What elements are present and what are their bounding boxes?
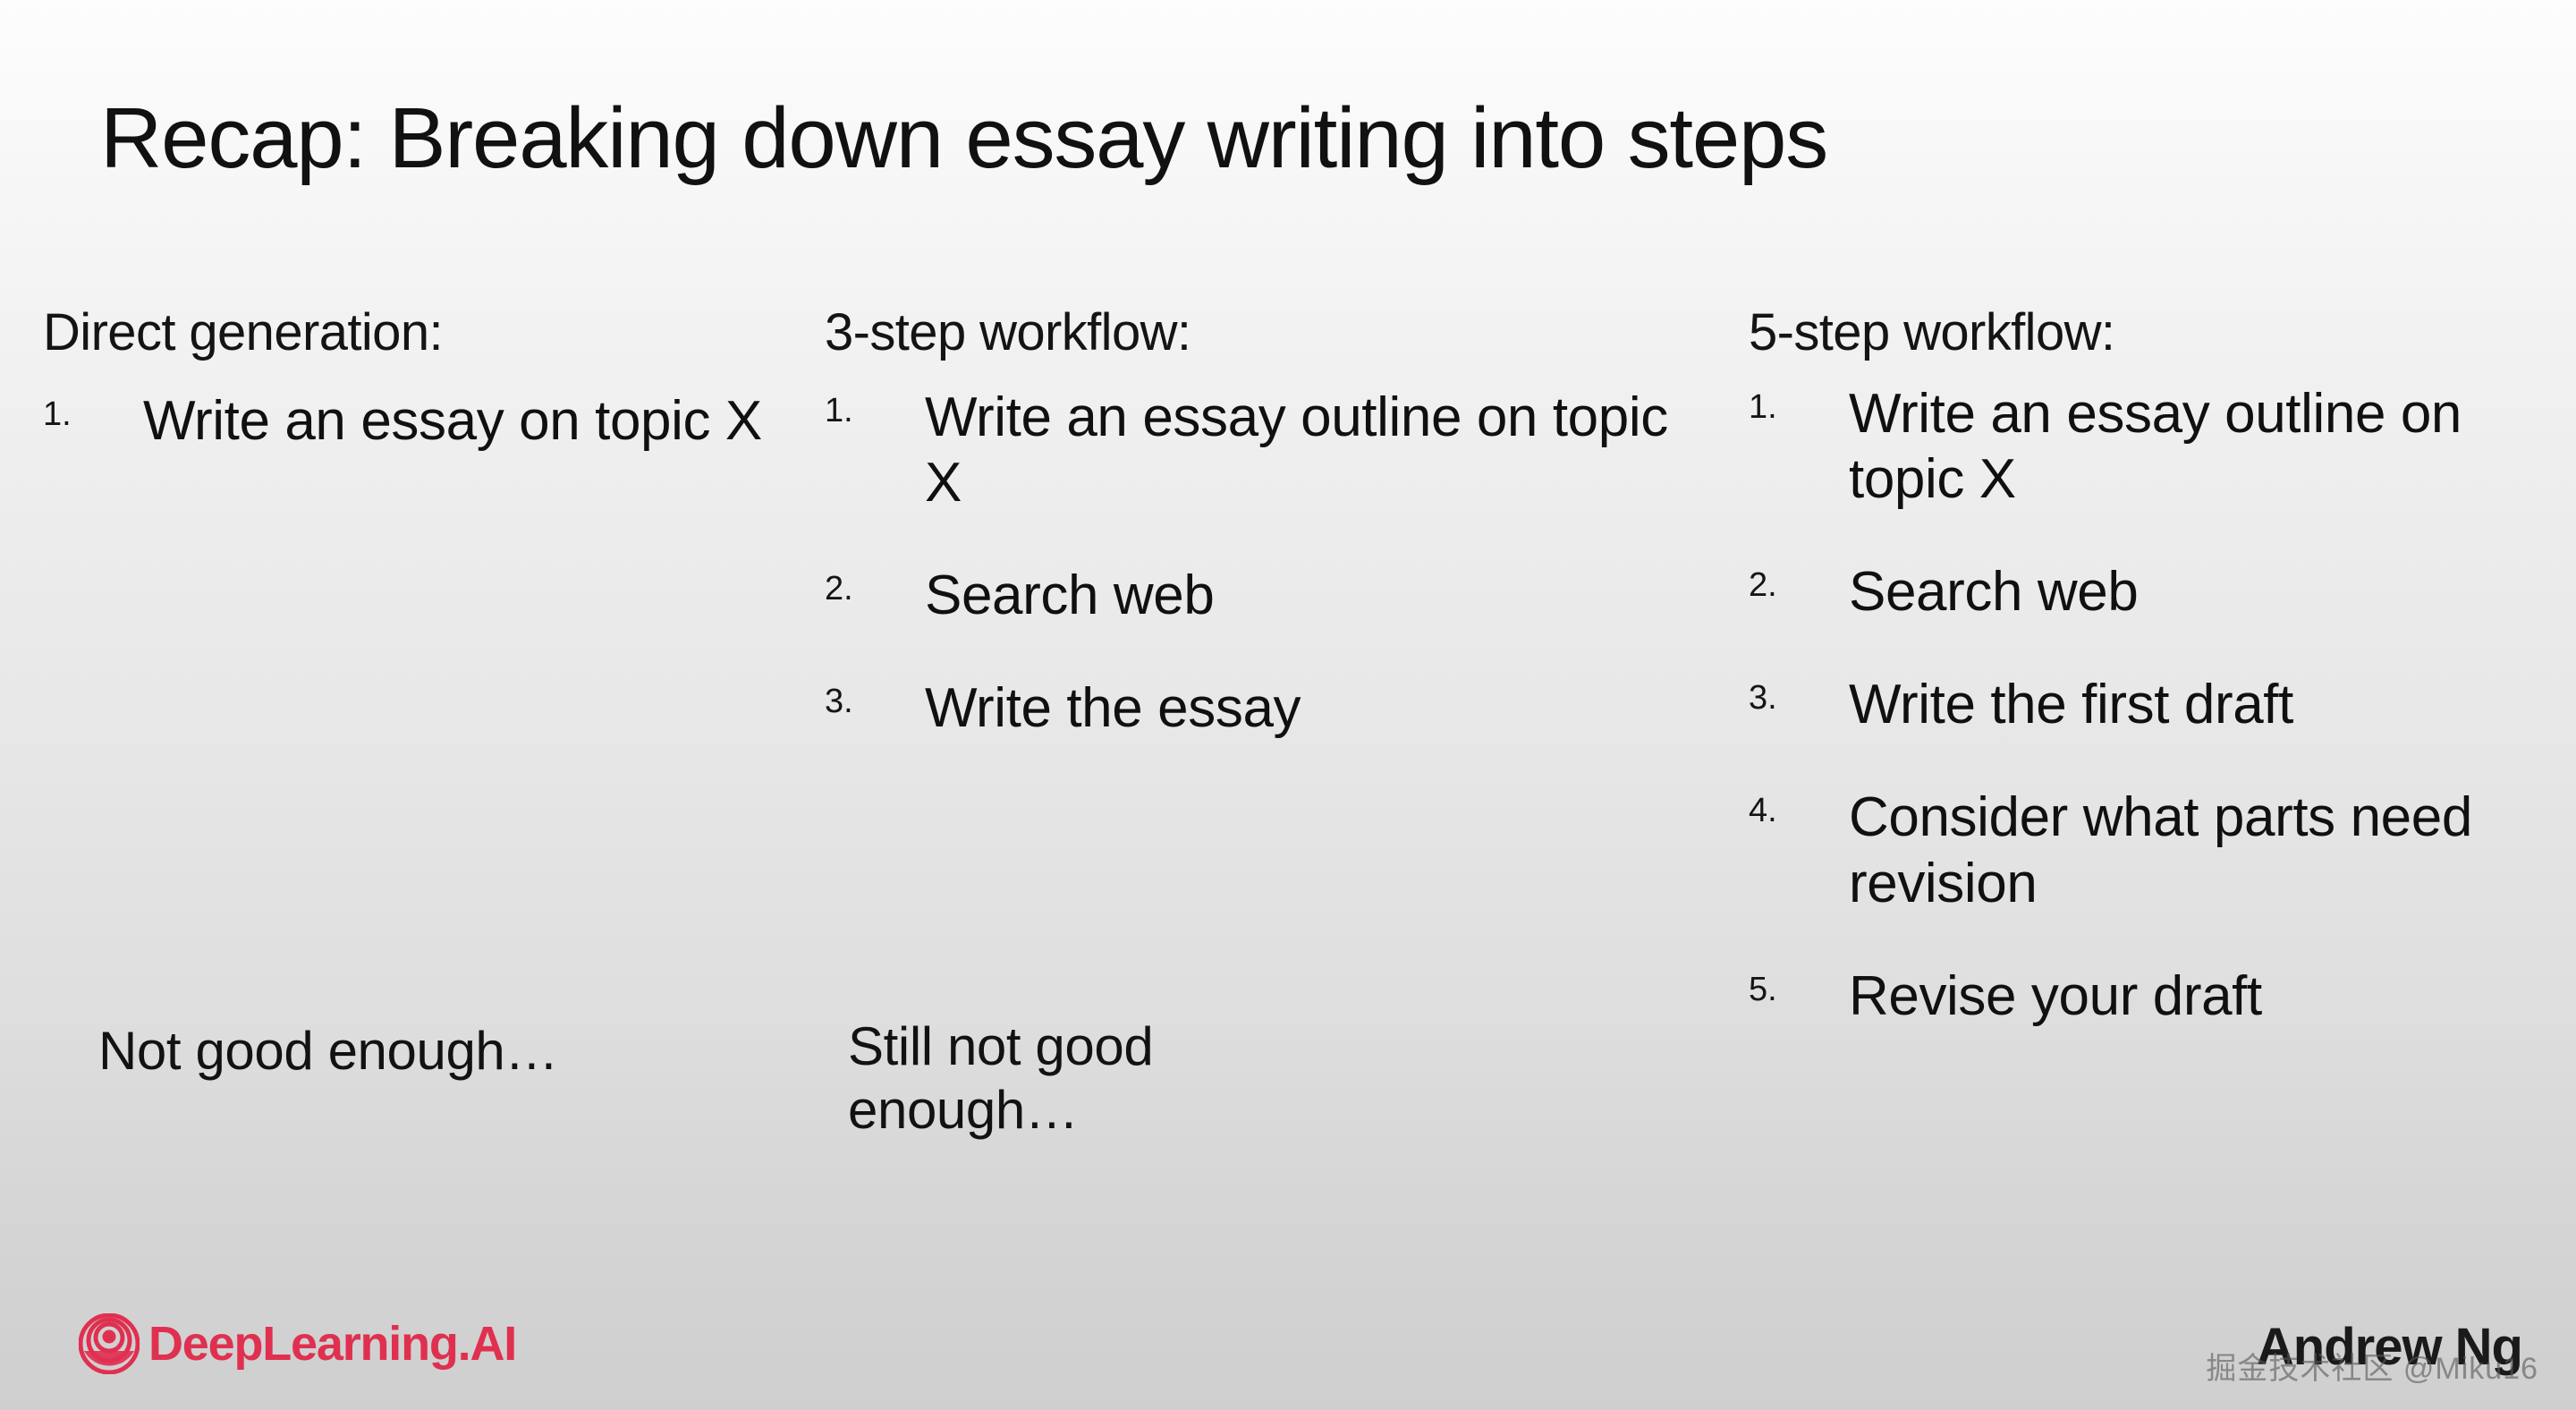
column-header-three-step-workflow: 3-step workflow:	[825, 304, 1683, 361]
page-title: Recap: Breaking down essay writing into …	[100, 93, 1827, 184]
step-list-five-step-workflow: 1. Write an essay outline on topic X 2. …	[1749, 381, 2576, 1029]
step-number: 2.	[825, 572, 887, 606]
list-item: 2. Search web	[1749, 559, 2576, 624]
step-text: Search web	[925, 563, 1683, 628]
step-number: 1.	[43, 397, 106, 431]
list-item: 2. Search web	[825, 563, 1683, 628]
author-credit: Andrew Ng	[2257, 1317, 2522, 1377]
brand-name: DeepLearning.AI	[148, 1320, 516, 1368]
column-header-five-step-workflow: 5-step workflow:	[1749, 304, 2576, 361]
list-item: 1. Write an essay on topic X	[43, 388, 785, 454]
step-number: 3.	[1749, 681, 1811, 715]
step-number: 2.	[1749, 568, 1811, 602]
step-text: Revise your draft	[1849, 964, 2576, 1029]
list-item: 5. Revise your draft	[1749, 964, 2576, 1029]
list-item: 1. Write an essay outline on topic X	[1749, 381, 2576, 512]
list-item: 4. Consider what parts need revision	[1749, 785, 2576, 915]
step-list-three-step-workflow: 1. Write an essay outline on topic X 2. …	[825, 385, 1683, 742]
step-number: 1.	[825, 394, 887, 428]
step-text: Write an essay outline on topic X	[925, 385, 1683, 515]
step-text: Write the essay	[925, 675, 1683, 741]
column-five-step-workflow: 5-step workflow: 1. Write an essay outli…	[1749, 304, 2576, 1029]
step-text: Write an essay outline on topic X	[1849, 381, 2576, 512]
column-header-direct-generation: Direct generation:	[43, 304, 785, 361]
verdict-three-step-workflow: Still not good enough…	[848, 1015, 1349, 1142]
step-text: Consider what parts need revision	[1849, 785, 2576, 915]
step-text: Write an essay on topic X	[143, 388, 785, 454]
step-list-direct-generation: 1. Write an essay on topic X	[43, 388, 785, 454]
column-three-step-workflow: 3-step workflow: 1. Write an essay outli…	[825, 304, 1683, 788]
slide-canvas: Recap: Breaking down essay writing into …	[0, 0, 2576, 1410]
list-item: 3. Write the essay	[825, 675, 1683, 741]
brand-logo: DeepLearning.AI	[79, 1313, 516, 1374]
step-text: Search web	[1849, 559, 2576, 624]
verdict-direct-generation: Not good enough…	[98, 1020, 778, 1083]
step-number: 1.	[1749, 390, 1811, 424]
step-text: Write the first draft	[1849, 672, 2576, 737]
step-number: 5.	[1749, 973, 1811, 1007]
list-item: 3. Write the first draft	[1749, 672, 2576, 737]
list-item: 1. Write an essay outline on topic X	[825, 385, 1683, 515]
step-number: 3.	[825, 684, 887, 718]
step-number: 4.	[1749, 794, 1811, 828]
deeplearning-ai-rings-icon	[79, 1313, 140, 1374]
column-direct-generation: Direct generation: 1. Write an essay on …	[43, 304, 785, 454]
